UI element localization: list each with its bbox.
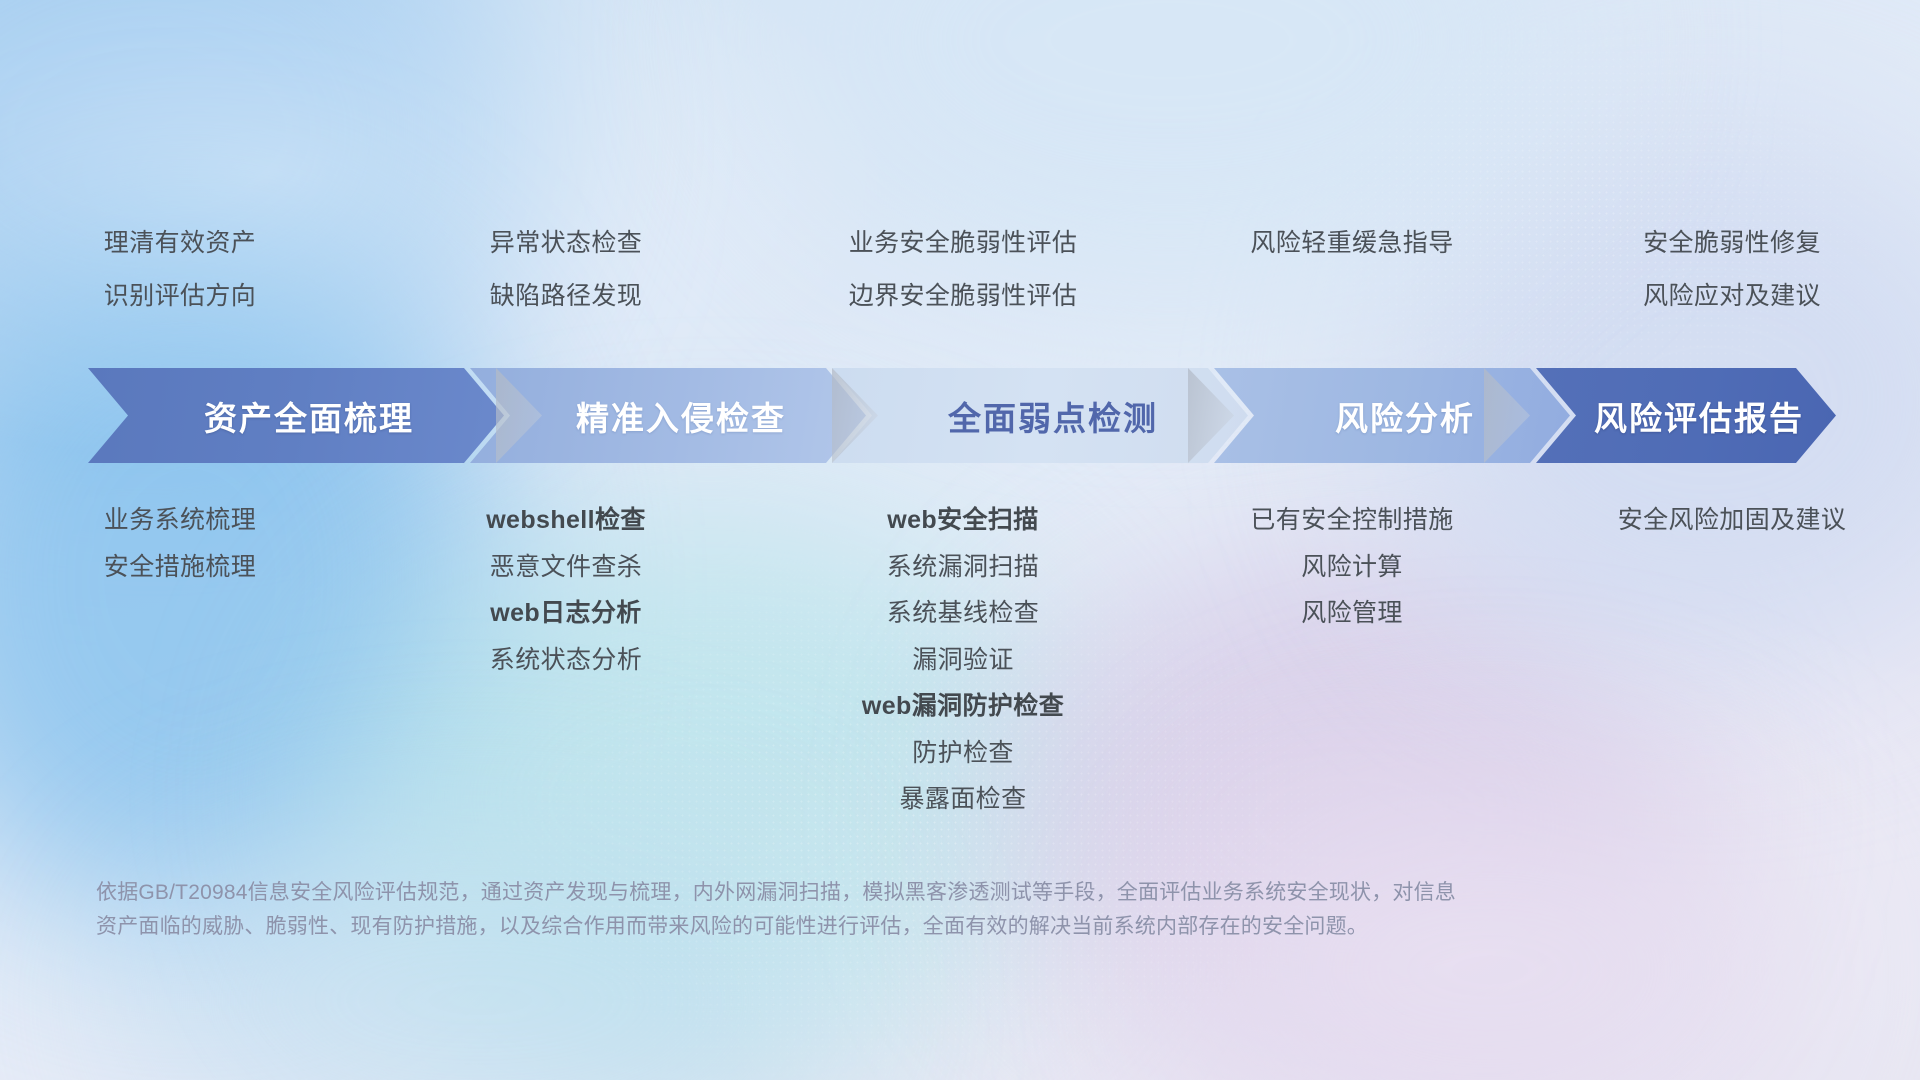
- detail-item: 系统漏洞扫描: [786, 552, 1140, 583]
- detail-item: web日志分析: [389, 598, 743, 629]
- process-stage-asset[interactable]: 资产全面梳理: [88, 368, 504, 463]
- detail-item: 恶意文件查杀: [389, 552, 743, 583]
- bottom-column-report: 安全风险加固及建议: [1511, 505, 1865, 536]
- top-column-intrusion: 异常状态检查 缺陷路径发现: [449, 228, 803, 311]
- detail-item: 风险计算: [1175, 552, 1529, 583]
- detail-item: 安全风险加固及建议: [1555, 505, 1909, 536]
- top-item: 识别评估方向: [3, 281, 357, 312]
- process-stage-label: 风险评估报告: [1594, 392, 1804, 440]
- footer-description: 依据GB/T20984信息安全风险评估规范，通过资产发现与梳理，内外网漏洞扫描，…: [96, 876, 1736, 944]
- top-item: 安全脆弱性修复: [1555, 228, 1909, 259]
- top-column-risk-analysis: 风险轻重缓急指导: [1157, 228, 1511, 311]
- bottom-detail-row: 业务系统梳理 安全措施梳理 webshell检查 恶意文件查杀 web日志分析 …: [95, 505, 1865, 815]
- detail-item: 已有安全控制措施: [1175, 505, 1529, 536]
- detail-item: web安全扫描: [786, 505, 1140, 536]
- top-item: 理清有效资产: [3, 228, 357, 259]
- process-stage-label: 资产全面梳理: [204, 392, 414, 440]
- bottom-column-intrusion: webshell检查 恶意文件查杀 web日志分析 系统状态分析: [449, 505, 803, 675]
- detail-item: 系统状态分析: [389, 645, 743, 676]
- slide-canvas: 理清有效资产 识别评估方向 异常状态检查 缺陷路径发现 业务安全脆弱性评估 边界…: [0, 0, 1920, 1080]
- top-item: 异常状态检查: [389, 228, 743, 259]
- detail-item: 安全措施梳理: [3, 552, 357, 583]
- detail-item: 业务系统梳理: [3, 505, 357, 536]
- footer-line: 依据GB/T20984信息安全风险评估规范，通过资产发现与梳理，内外网漏洞扫描，…: [96, 876, 1736, 910]
- top-item: 业务安全脆弱性评估: [786, 228, 1140, 259]
- footer-line: 资产面临的威胁、脆弱性、现有防护措施，以及综合作用而带来风险的可能性进行评估，全…: [96, 910, 1736, 944]
- top-item: 缺陷路径发现: [389, 281, 743, 312]
- detail-item: 防护检查: [786, 738, 1140, 769]
- bottom-column-weakness: web安全扫描 系统漏洞扫描 系统基线检查 漏洞验证 web漏洞防护检查 防护检…: [803, 505, 1157, 815]
- top-item: 风险应对及建议: [1555, 281, 1909, 312]
- top-item: 风险轻重缓急指导: [1175, 228, 1529, 259]
- top-capability-row: 理清有效资产 识别评估方向 异常状态检查 缺陷路径发现 业务安全脆弱性评估 边界…: [95, 228, 1865, 311]
- detail-item: 暴露面检查: [786, 784, 1140, 815]
- detail-item: webshell检查: [389, 505, 743, 536]
- bottom-column-risk-analysis: 已有安全控制措施 风险计算 风险管理: [1157, 505, 1511, 629]
- top-column-weakness: 业务安全脆弱性评估 边界安全脆弱性评估: [803, 228, 1157, 311]
- top-item: 边界安全脆弱性评估: [786, 281, 1140, 312]
- process-stage-weakness[interactable]: 全面弱点检测: [832, 368, 1248, 463]
- process-arrow-band: 资产全面梳理 精准入侵检查 全面弱点检测 风险分析 风险评估报告: [88, 368, 1836, 463]
- process-stage-label: 风险分析: [1335, 392, 1475, 440]
- process-stage-label: 精准入侵检查: [576, 392, 786, 440]
- detail-item: 系统基线检查: [786, 598, 1140, 629]
- detail-item: 风险管理: [1175, 598, 1529, 629]
- detail-item: 漏洞验证: [786, 645, 1140, 676]
- process-stage-report[interactable]: 风险评估报告: [1536, 368, 1836, 463]
- process-stage-label: 全面弱点检测: [948, 392, 1158, 440]
- top-column-report: 安全脆弱性修复 风险应对及建议: [1511, 228, 1865, 311]
- detail-item: web漏洞防护检查: [786, 691, 1140, 722]
